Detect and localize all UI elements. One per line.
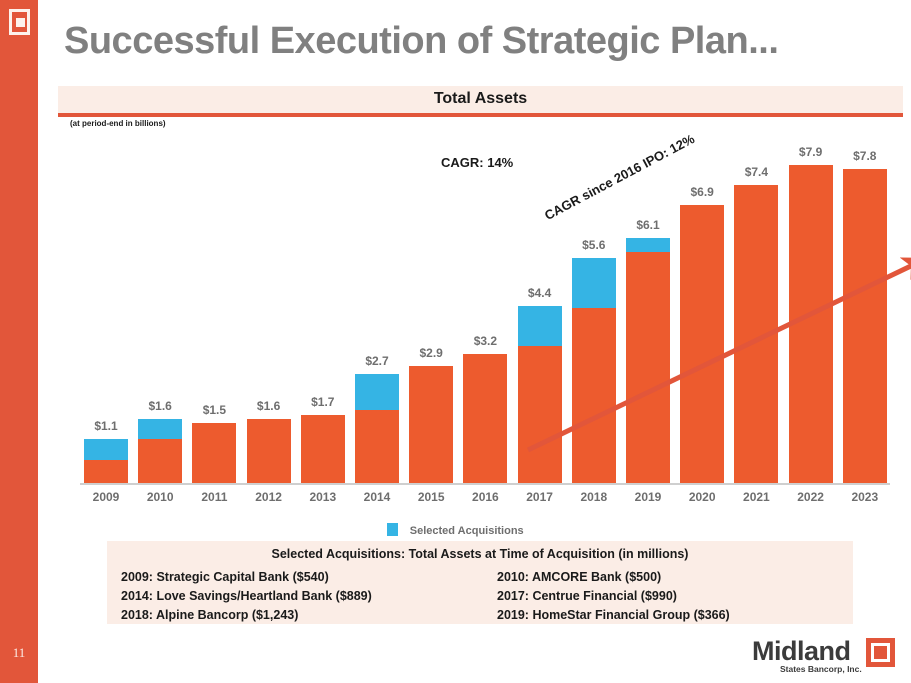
acquisitions-heading: Selected Acquisitions: Total Assets at T… xyxy=(107,541,853,561)
bar-2023 xyxy=(843,169,887,483)
chart-plot-area: $1.1$1.6$1.5$1.6$1.7$2.7$2.9$3.2$4.4$5.6… xyxy=(60,130,905,490)
bar-segment-acquisitions-2009 xyxy=(84,439,128,461)
bar-2018 xyxy=(572,258,616,483)
bar-segment-base-2012 xyxy=(247,419,291,483)
bar-segment-base-2016 xyxy=(463,354,507,483)
bar-segment-acquisitions-2010 xyxy=(138,419,182,439)
bar-value-label-2020: $6.9 xyxy=(670,185,734,199)
bar-2009 xyxy=(84,439,128,483)
acquisition-item: 2014: Love Savings/Heartland Bank ($889) xyxy=(121,587,463,606)
bar-value-label-2009: $1.1 xyxy=(74,419,138,433)
acquisition-item: 2009: Strategic Capital Bank ($540) xyxy=(121,568,463,587)
bar-value-label-2018: $5.6 xyxy=(562,238,626,252)
bar-2014 xyxy=(355,374,399,483)
brand-name: Midland xyxy=(752,636,851,667)
bar-value-label-2017: $4.4 xyxy=(508,286,572,300)
chart-units-note: (at period-end in billions) xyxy=(70,119,166,128)
bar-segment-base-2018 xyxy=(572,308,616,483)
bar-segment-base-2009 xyxy=(84,460,128,483)
bar-2013 xyxy=(301,415,345,483)
nested-square-icon-inner xyxy=(16,18,25,27)
bar-value-label-2016: $3.2 xyxy=(453,334,517,348)
bar-segment-base-2017 xyxy=(518,346,562,483)
bar-segment-acquisitions-2014 xyxy=(355,374,399,410)
bar-segment-base-2020 xyxy=(680,205,724,483)
left-rail: 11 xyxy=(0,0,38,683)
bar-2016 xyxy=(463,354,507,483)
bar-2020 xyxy=(680,205,724,483)
acquisitions-left-column: 2009: Strategic Capital Bank ($540)2014:… xyxy=(121,568,463,625)
acquisitions-columns: 2009: Strategic Capital Bank ($540)2014:… xyxy=(107,561,853,625)
acquisitions-right-column: 2010: AMCORE Bank ($500)2017: Centrue Fi… xyxy=(463,568,839,625)
bar-segment-base-2019 xyxy=(626,252,670,483)
bar-value-label-2019: $6.1 xyxy=(616,218,680,232)
bar-2015 xyxy=(409,366,453,483)
bar-2011 xyxy=(192,423,236,483)
bar-2010 xyxy=(138,419,182,483)
chart-legend: Selected Acquisitions xyxy=(0,521,911,539)
midland-logo: Midland States Bancorp, Inc. xyxy=(752,636,902,678)
acquisition-item: 2010: AMCORE Bank ($500) xyxy=(497,568,839,587)
brand-tagline: States Bancorp, Inc. xyxy=(780,664,862,674)
bar-segment-base-2010 xyxy=(138,439,182,483)
bar-value-label-2013: $1.7 xyxy=(291,395,355,409)
midland-square-mark-icon xyxy=(866,638,895,667)
chart-title: Total Assets xyxy=(58,86,903,108)
bar-2012 xyxy=(247,419,291,483)
midland-square-mark-ring xyxy=(871,643,890,662)
bar-segment-base-2015 xyxy=(409,366,453,483)
blue-square-swatch-icon xyxy=(387,523,398,536)
bar-segment-base-2021 xyxy=(734,185,778,483)
acquisitions-panel: Selected Acquisitions: Total Assets at T… xyxy=(107,541,853,624)
bar-segment-acquisitions-2018 xyxy=(572,258,616,308)
acquisition-item: 2017: Centrue Financial ($990) xyxy=(497,587,839,606)
bar-segment-acquisitions-2019 xyxy=(626,238,670,253)
bar-segment-base-2013 xyxy=(301,415,345,483)
chart-header-band: Total Assets xyxy=(58,86,903,113)
acquisition-item: 2019: HomeStar Financial Group ($366) xyxy=(497,606,839,625)
bar-2022 xyxy=(789,165,833,483)
x-axis-line xyxy=(80,483,890,485)
bar-segment-base-2011 xyxy=(192,423,236,483)
nested-square-icon xyxy=(9,9,30,35)
slide-root: 11 Successful Execution of Strategic Pla… xyxy=(0,0,911,683)
x-axis-tick-2023: 2023 xyxy=(833,490,897,504)
bar-segment-base-2023 xyxy=(843,169,887,483)
bar-value-label-2023: $7.8 xyxy=(833,149,897,163)
page-title: Successful Execution of Strategic Plan..… xyxy=(64,20,778,63)
page-number: 11 xyxy=(0,645,38,661)
bar-2017 xyxy=(518,306,562,483)
bar-2021 xyxy=(734,185,778,483)
bar-segment-base-2014 xyxy=(355,410,399,483)
legend-label: Selected Acquisitions xyxy=(410,525,524,537)
acquisition-item: 2018: Alpine Bancorp ($1,243) xyxy=(121,606,463,625)
bar-value-label-2015: $2.9 xyxy=(399,346,463,360)
bar-segment-base-2022 xyxy=(789,165,833,483)
cagr-annotation: CAGR: 14% xyxy=(441,155,513,170)
bar-value-label-2021: $7.4 xyxy=(724,165,788,179)
bar-2019 xyxy=(626,238,670,483)
bar-segment-acquisitions-2017 xyxy=(518,306,562,346)
chart-header-rule xyxy=(58,113,903,117)
